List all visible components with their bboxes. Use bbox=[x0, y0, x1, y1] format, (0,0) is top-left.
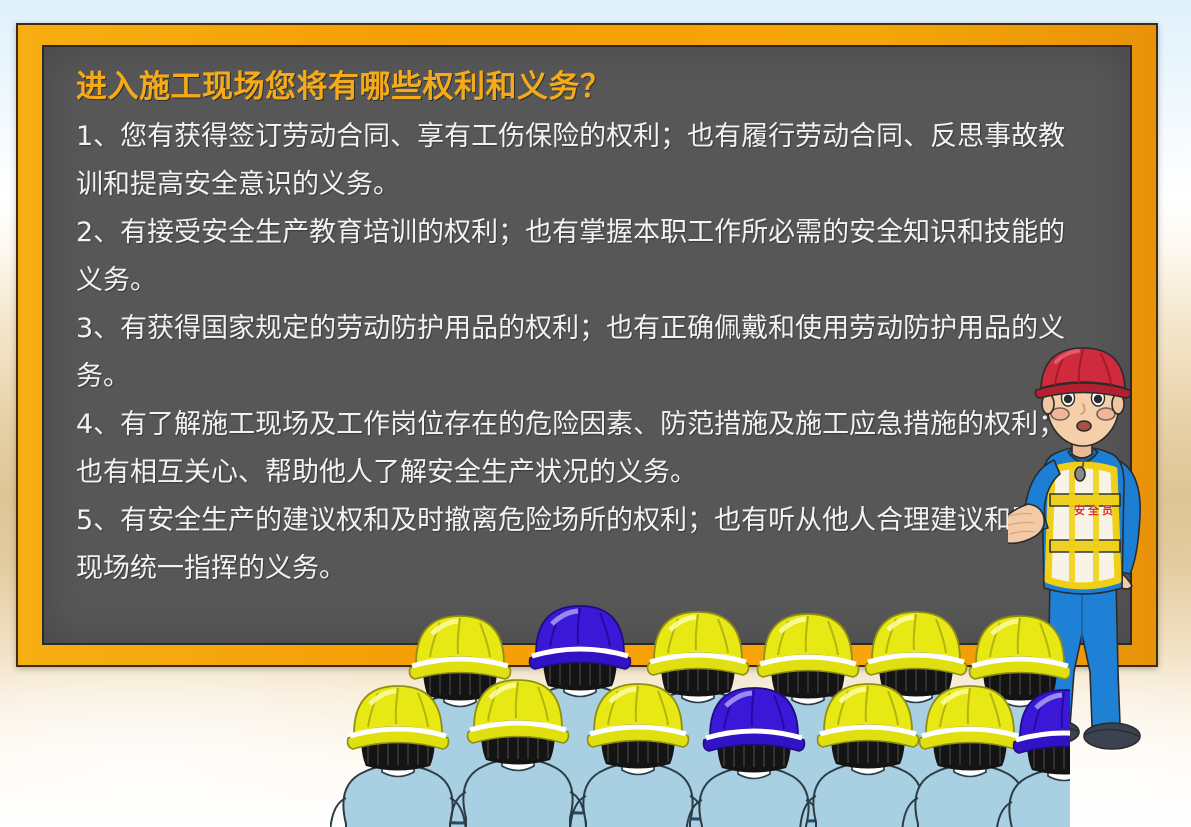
clause-item-4: 4、有了解施工现场及工作岗位存在的危险因素、防范措施及施工应急措施的权利；也有相… bbox=[76, 401, 1076, 497]
clause-item-1: 1、您有获得签订劳动合同、享有工伤保险的权利；也有履行劳动合同、反思事故教训和提… bbox=[76, 113, 1076, 209]
clause-item-3: 3、有获得国家规定的劳动防护用品的权利；也有正确佩戴和使用劳动防护用品的义务。 bbox=[76, 305, 1076, 401]
helmet-yellow-icon bbox=[970, 616, 1070, 679]
officer-open-hand-icon bbox=[1008, 504, 1044, 543]
helmet-yellow-icon bbox=[648, 612, 749, 675]
helmet-yellow-icon bbox=[758, 614, 859, 677]
page-title: 进入施工现场您将有哪些权利和义务？ bbox=[76, 65, 1112, 109]
officer-shoe-right bbox=[1084, 723, 1140, 749]
clause-item-2: 2、有接受安全生产教育培训的权利；也有掌握本职工作所必需的安全知识和技能的义务。 bbox=[76, 209, 1076, 305]
safety-poster: 进入施工现场您将有哪些权利和义务？ 1、您有获得签订劳动合同、享有工伤保险的权利… bbox=[0, 0, 1191, 827]
helmet-yellow-icon bbox=[866, 612, 967, 675]
helmet-yellow-icon bbox=[410, 616, 511, 679]
officer-helmet-icon bbox=[1041, 348, 1125, 388]
board-text-block: 进入施工现场您将有哪些权利和义务？ 1、您有获得签订劳动合同、享有工伤保险的权利… bbox=[76, 65, 1112, 593]
officer-whistle-icon bbox=[1075, 467, 1085, 481]
officer-mouth bbox=[1077, 421, 1091, 431]
officer-vest-stripe-top bbox=[1050, 494, 1120, 506]
helmet-blue-icon bbox=[530, 606, 631, 669]
worker-crowd bbox=[330, 540, 1070, 827]
